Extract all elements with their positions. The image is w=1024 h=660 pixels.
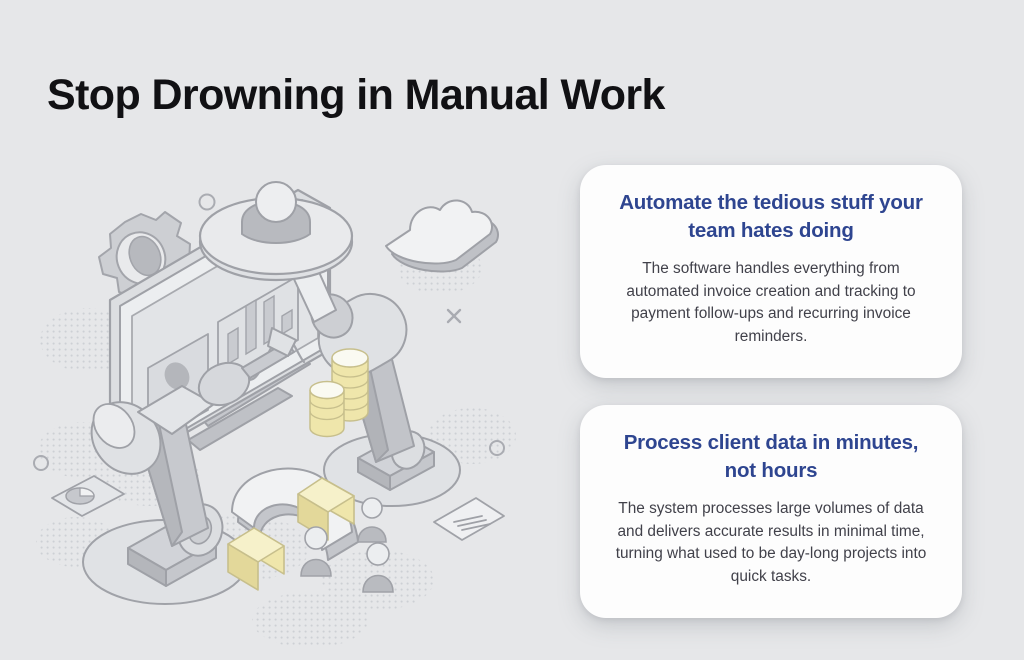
coin-stack-short [310, 382, 344, 437]
feature-card-process[interactable]: Process client data in minutes, not hour… [580, 405, 962, 618]
slide-root: Stop Drowning in Manual Work [0, 0, 1024, 660]
page-title: Stop Drowning in Manual Work [47, 71, 665, 119]
deco-cross [448, 310, 460, 322]
suction-cup [200, 182, 352, 280]
feature-card-automate[interactable]: Automate the tedious stuff your team hat… [580, 165, 962, 378]
card-body: The software handles everything from aut… [608, 258, 934, 350]
card-heading: Automate the tedious stuff your team hat… [608, 189, 934, 246]
person-figure [358, 498, 386, 542]
cloud-icon [386, 200, 498, 271]
hero-illustration [10, 150, 555, 650]
card-heading: Process client data in minutes, not hour… [608, 429, 934, 486]
coin-stack [310, 349, 368, 437]
feature-card-list: Automate the tedious stuff your team hat… [580, 165, 962, 618]
card-body: The system processes large volumes of da… [608, 498, 934, 590]
document-card [434, 498, 504, 540]
